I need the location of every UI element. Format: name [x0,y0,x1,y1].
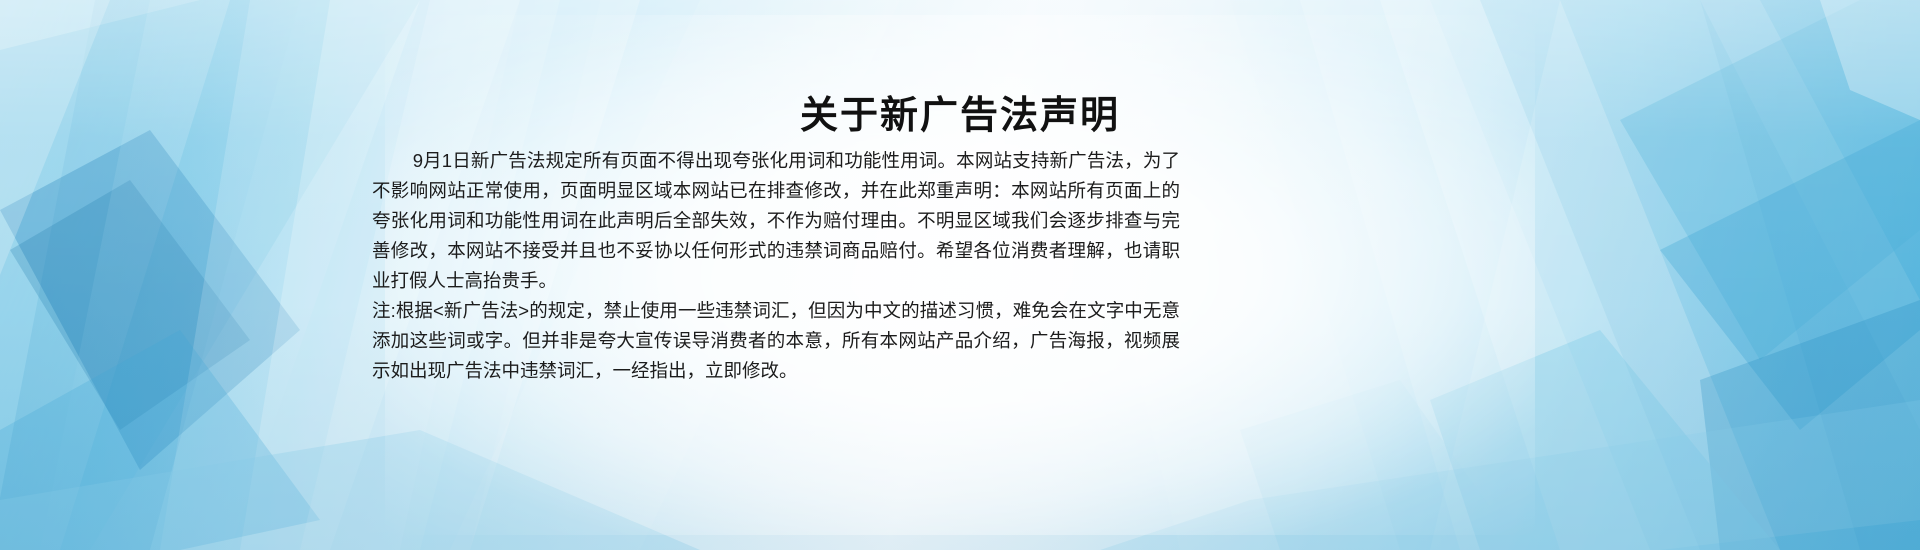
statement-paragraph-2: 注:根据<新广告法>的规定，禁止使用一些违禁词汇，但因为中文的描述习惯，难免会在… [372,296,1180,386]
statement-body: 9月1日新广告法规定所有页面不得出现夸张化用词和功能性用词。本网站支持新广告法，… [372,146,1180,386]
statement-content: 关于新广告法声明 9月1日新广告法规定所有页面不得出现夸张化用词和功能性用词。本… [0,0,1920,550]
page-title: 关于新广告法声明 [0,84,1920,139]
statement-paragraph-1: 9月1日新广告法规定所有页面不得出现夸张化用词和功能性用词。本网站支持新广告法，… [372,146,1180,296]
advertising-law-statement-banner: 关于新广告法声明 9月1日新广告法规定所有页面不得出现夸张化用词和功能性用词。本… [0,0,1920,550]
